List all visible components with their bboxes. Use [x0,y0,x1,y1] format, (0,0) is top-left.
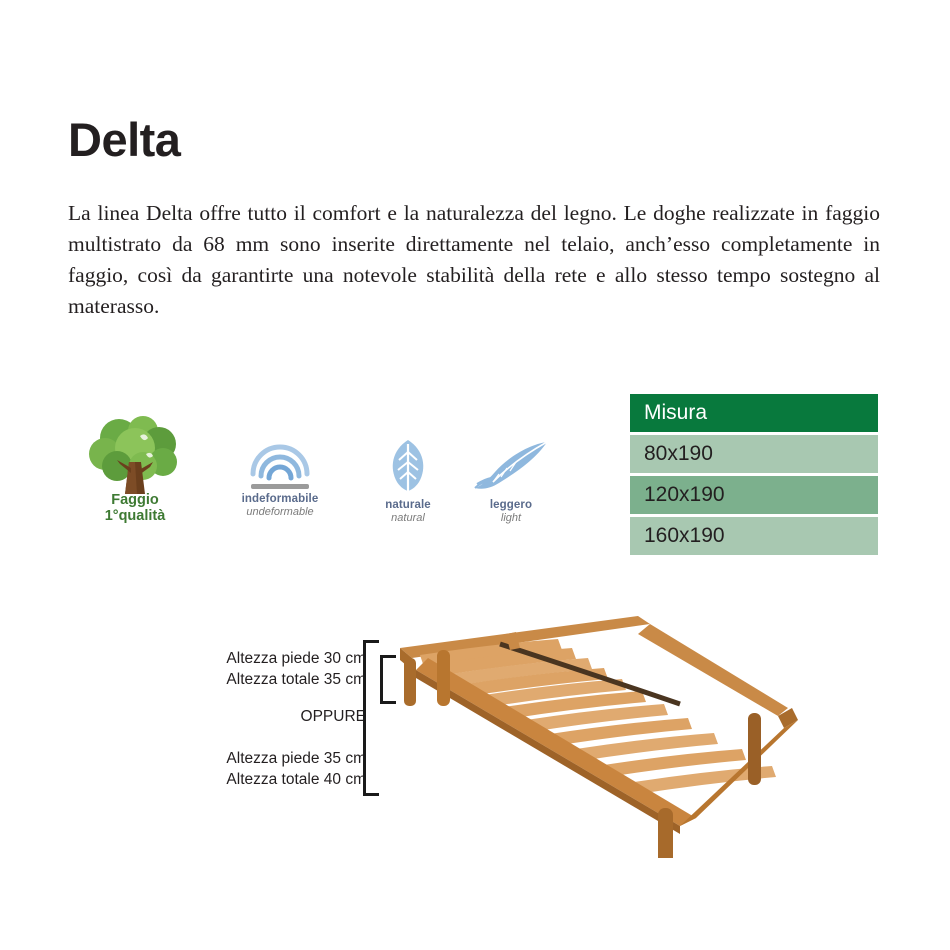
size-table-row[interactable]: 120x190 [630,476,878,514]
feature-indeformabile: indeformabile undeformable [210,444,350,518]
feature-leggero-label-it: leggero [452,499,570,511]
bed-base-illustration [380,608,800,858]
feature-leggero: leggero light [452,438,570,524]
feature-naturale-label-it: naturale [360,499,456,511]
dimension-separator: OPPURE [301,706,366,727]
dimension-option-a: Altezza piede 30 cm Altezza totale 35 cm [226,648,366,690]
product-sheet-page: { "product": { "title": "Delta", "descri… [0,0,950,950]
feature-naturale-label-en: natural [360,512,456,524]
bed-leg-front-right [658,808,673,858]
dimension-option-b-line1: Altezza piede 35 cm [226,748,366,769]
dimension-option-a-line2: Altezza totale 35 cm [226,669,366,690]
feature-faggio-caption-line2: 1°qualità [76,508,194,524]
bed-leg-front-left [437,650,450,706]
page-title: Delta [68,116,180,163]
dimension-option-b: Altezza piede 35 cm Altezza totale 40 cm [226,748,366,790]
feature-faggio-caption-line1: Faggio [76,492,194,508]
leaf-icon [385,438,431,496]
feature-faggio: Faggio 1°qualità [76,416,194,524]
bed-leg-rear-right [748,713,761,785]
feature-icon-row: Faggio 1°qualità indeformabile undeforma… [70,408,540,543]
size-table-header: Misura [630,394,878,432]
dimension-option-a-line1: Altezza piede 30 cm [226,648,366,669]
bed-rail-far-right [638,624,788,716]
size-table: Misura 80x190 120x190 160x190 [630,394,878,558]
bracket-total-height [363,640,379,796]
feature-leggero-label-en: light [452,512,570,524]
feature-indeformabile-label-it: indeformabile [210,493,350,505]
feature-naturale: naturale natural [360,438,456,524]
feature-indeformabile-label-en: undeformable [210,506,350,518]
bed-leg-rear-left [404,658,416,706]
size-table-row[interactable]: 80x190 [630,435,878,473]
product-description: La linea Delta offre tutto il comfort e … [68,198,880,322]
dimension-option-b-line2: Altezza totale 40 cm [226,769,366,790]
dimension-annotations: Altezza piede 30 cm Altezza totale 35 cm… [150,640,380,805]
feather-icon [469,438,553,496]
arcs-over-bar-icon [245,444,315,490]
feature-faggio-caption: Faggio 1°qualità [76,492,194,524]
tree-icon [83,416,187,498]
size-table-row[interactable]: 160x190 [630,517,878,555]
